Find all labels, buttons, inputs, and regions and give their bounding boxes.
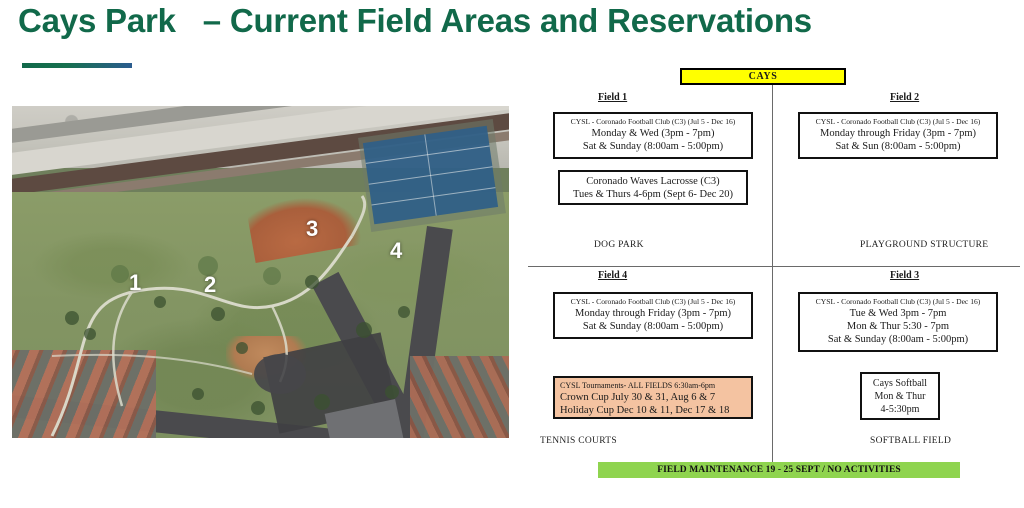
field2-cysl-line-2: Monday through Friday (3pm - 7pm) bbox=[804, 127, 992, 140]
field1-cysl-line-3: Sat & Sunday (8:00am - 5:00pm) bbox=[559, 140, 747, 153]
aerial-map-photo: 1 2 3 4 bbox=[12, 106, 509, 438]
cays-softball-box: Cays Softball Mon & Thur 4-5:30pm bbox=[860, 372, 940, 420]
softball-line-1: Cays Softball bbox=[866, 377, 934, 390]
field4-cysl-line-2: Monday through Friday (3pm - 7pm) bbox=[559, 307, 747, 320]
zone-label-playground-structure: PLAYGROUND STRUCTURE bbox=[860, 240, 988, 250]
field1-lacrosse-box: Coronado Waves Lacrosse (C3) Tues & Thur… bbox=[558, 170, 748, 205]
softball-line-2: Mon & Thur bbox=[866, 390, 934, 403]
field2-cysl-line-3: Sat & Sun (8:00am - 5:00pm) bbox=[804, 140, 992, 153]
field3-cysl-box: CYSL - Coronado Football Club (C3) (Jul … bbox=[798, 292, 998, 352]
field-4-heading: Field 4 bbox=[598, 270, 627, 281]
field-1-heading: Field 1 bbox=[598, 92, 627, 103]
field1-cysl-line-2: Monday & Wed (3pm - 7pm) bbox=[559, 127, 747, 140]
diagram-horizontal-divider bbox=[528, 266, 1020, 267]
field-3-heading: Field 3 bbox=[890, 270, 919, 281]
field3-cysl-line-3: Mon & Thur 5:30 - 7pm bbox=[804, 320, 992, 333]
field3-cysl-line-4: Sat & Sunday (8:00am - 5:00pm) bbox=[804, 333, 992, 346]
map-marker-3: 3 bbox=[306, 218, 318, 240]
title-accent-bar bbox=[22, 63, 132, 68]
map-marker-2: 2 bbox=[204, 274, 216, 296]
softball-line-3: 4-5:30pm bbox=[866, 403, 934, 416]
field3-cysl-line-2: Tue & Wed 3pm - 7pm bbox=[804, 307, 992, 320]
field4-cysl-box: CYSL - Coronado Football Club (C3) (Jul … bbox=[553, 292, 753, 339]
field-maintenance-bar: FIELD MAINTENANCE 19 - 25 SEPT / NO ACTI… bbox=[598, 462, 960, 478]
field3-cysl-line-1: CYSL - Coronado Football Club (C3) (Jul … bbox=[804, 296, 992, 307]
map-marker-1: 1 bbox=[129, 272, 141, 294]
zone-label-softball-field: SOFTBALL FIELD bbox=[870, 436, 951, 446]
tournaments-line-3: Holiday Cup Dec 10 & 11, Dec 17 & 18 bbox=[560, 404, 747, 417]
field1-cysl-box: CYSL - Coronado Football Club (C3) (Jul … bbox=[553, 112, 753, 159]
field-2-heading: Field 2 bbox=[890, 92, 919, 103]
field1-cysl-line-1: CYSL - Coronado Football Club (C3) (Jul … bbox=[559, 116, 747, 127]
field1-lacrosse-line-2: Tues & Thurs 4-6pm (Sept 6- Dec 20) bbox=[564, 188, 742, 201]
map-marker-4: 4 bbox=[390, 240, 402, 262]
zone-label-dog-park: DOG PARK bbox=[594, 240, 644, 250]
reservations-diagram: CAYS Field 1 CYSL - Coronado Football Cl… bbox=[520, 60, 1024, 500]
tournaments-line-2: Crown Cup July 30 & 31, Aug 6 & 7 bbox=[560, 391, 747, 404]
field2-cysl-box: CYSL - Coronado Football Club (C3) (Jul … bbox=[798, 112, 998, 159]
page-title: Cays Park – Current Field Areas and Rese… bbox=[18, 2, 978, 40]
zone-label-tennis-courts: TENNIS COURTS bbox=[540, 436, 617, 446]
map-walking-paths bbox=[12, 106, 509, 438]
tournaments-line-1: CYSL Tournaments- ALL FIELDS 6:30am-6pm bbox=[560, 380, 747, 391]
cays-banner: CAYS bbox=[680, 68, 846, 85]
field4-cysl-line-1: CYSL - Coronado Football Club (C3) (Jul … bbox=[559, 296, 747, 307]
field2-cysl-line-1: CYSL - Coronado Football Club (C3) (Jul … bbox=[804, 116, 992, 127]
cysl-tournaments-box: CYSL Tournaments- ALL FIELDS 6:30am-6pm … bbox=[553, 376, 753, 419]
field4-cysl-line-3: Sat & Sunday (8:00am - 5:00pm) bbox=[559, 320, 747, 333]
diagram-vertical-divider bbox=[772, 84, 773, 472]
field1-lacrosse-line-1: Coronado Waves Lacrosse (C3) bbox=[564, 175, 742, 188]
